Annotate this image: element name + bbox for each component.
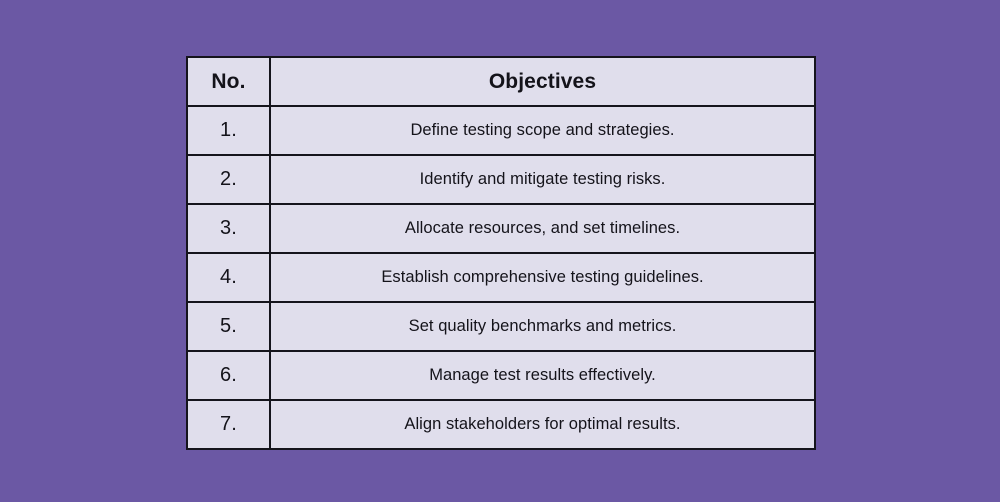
- column-header-objective: Objectives: [270, 57, 815, 106]
- table-row: 2. Identify and mitigate testing risks.: [187, 155, 815, 204]
- row-objective: Allocate resources, and set timelines.: [270, 204, 815, 253]
- table-row: 3. Allocate resources, and set timelines…: [187, 204, 815, 253]
- row-number: 7.: [187, 400, 270, 449]
- row-objective: Align stakeholders for optimal results.: [270, 400, 815, 449]
- objectives-table-container: No. Objectives 1. Define testing scope a…: [186, 56, 814, 446]
- row-objective: Manage test results effectively.: [270, 351, 815, 400]
- row-objective: Establish comprehensive testing guidelin…: [270, 253, 815, 302]
- table-body: 1. Define testing scope and strategies. …: [187, 106, 815, 449]
- table-row: 7. Align stakeholders for optimal result…: [187, 400, 815, 449]
- page-canvas: No. Objectives 1. Define testing scope a…: [0, 0, 1000, 502]
- column-header-number: No.: [187, 57, 270, 106]
- table-row: 5. Set quality benchmarks and metrics.: [187, 302, 815, 351]
- row-number: 3.: [187, 204, 270, 253]
- objectives-table: No. Objectives 1. Define testing scope a…: [186, 56, 816, 450]
- row-objective: Identify and mitigate testing risks.: [270, 155, 815, 204]
- row-number: 4.: [187, 253, 270, 302]
- table-row: 1. Define testing scope and strategies.: [187, 106, 815, 155]
- table-row: 4. Establish comprehensive testing guide…: [187, 253, 815, 302]
- row-objective: Set quality benchmarks and metrics.: [270, 302, 815, 351]
- table-header-row: No. Objectives: [187, 57, 815, 106]
- row-number: 6.: [187, 351, 270, 400]
- table-row: 6. Manage test results effectively.: [187, 351, 815, 400]
- row-number: 5.: [187, 302, 270, 351]
- row-objective: Define testing scope and strategies.: [270, 106, 815, 155]
- row-number: 2.: [187, 155, 270, 204]
- row-number: 1.: [187, 106, 270, 155]
- table-header: No. Objectives: [187, 57, 815, 106]
